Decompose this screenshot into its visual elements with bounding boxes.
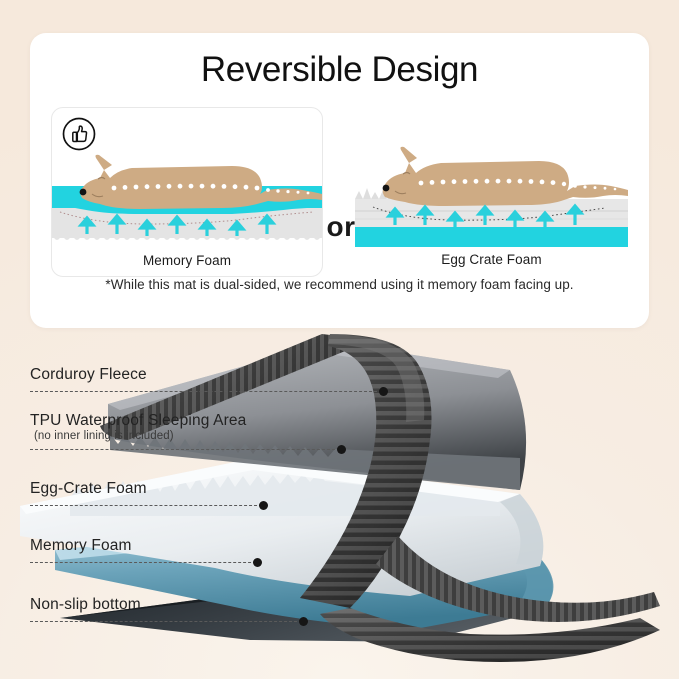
callout-label: TPU Waterproof Sleeping Area bbox=[30, 412, 246, 430]
dog-illustration bbox=[80, 155, 322, 209]
callout-label: Corduroy Fleece bbox=[30, 366, 147, 384]
thumbs-up-icon bbox=[61, 116, 97, 152]
callout-label: Memory Foam bbox=[30, 537, 132, 555]
panel-caption-memory-foam: Memory Foam bbox=[52, 253, 322, 268]
leader-line-memory-foam bbox=[30, 562, 256, 563]
callout-non-slip-bottom: Non-slip bottom bbox=[30, 596, 141, 614]
callout-label: Non-slip bottom bbox=[30, 596, 141, 614]
panel-caption-egg-crate-foam: Egg Crate Foam bbox=[355, 252, 628, 267]
callout-tpu-waterproof: TPU Waterproof Sleeping Area (no inner l… bbox=[30, 412, 246, 442]
leader-dot-non-slip-bottom bbox=[299, 617, 308, 626]
callout-egg-crate-foam: Egg-Crate Foam bbox=[30, 480, 147, 498]
leader-dot-corduroy-fleece bbox=[379, 387, 388, 396]
callout-corduroy-fleece: Corduroy Fleece bbox=[30, 366, 147, 384]
egg-crate-foam-diagram bbox=[355, 107, 628, 275]
panel-memory-foam: Memory Foam bbox=[51, 107, 323, 277]
page-title: Reversible Design bbox=[30, 50, 649, 90]
leader-line-egg-crate-foam bbox=[30, 505, 262, 506]
card-footnote: *While this mat is dual-sided, we recomm… bbox=[30, 277, 649, 292]
callout-memory-foam: Memory Foam bbox=[30, 537, 132, 555]
panel-egg-crate-foam: Egg Crate Foam bbox=[355, 107, 628, 275]
leader-line-tpu-waterproof bbox=[30, 449, 340, 450]
leader-dot-egg-crate-foam bbox=[259, 501, 268, 510]
leader-dot-tpu-waterproof bbox=[337, 445, 346, 454]
callout-sublabel: (no inner lining is included) bbox=[30, 430, 246, 442]
or-divider-label: or bbox=[315, 211, 367, 243]
dog-illustration bbox=[383, 147, 628, 206]
infographic-root: Reversible Design bbox=[0, 0, 679, 679]
reversible-design-card: Reversible Design bbox=[30, 33, 649, 328]
leader-line-corduroy-fleece bbox=[30, 391, 382, 392]
leader-dot-memory-foam bbox=[253, 558, 262, 567]
callout-label: Egg-Crate Foam bbox=[30, 480, 147, 498]
leader-line-non-slip-bottom bbox=[30, 621, 302, 622]
